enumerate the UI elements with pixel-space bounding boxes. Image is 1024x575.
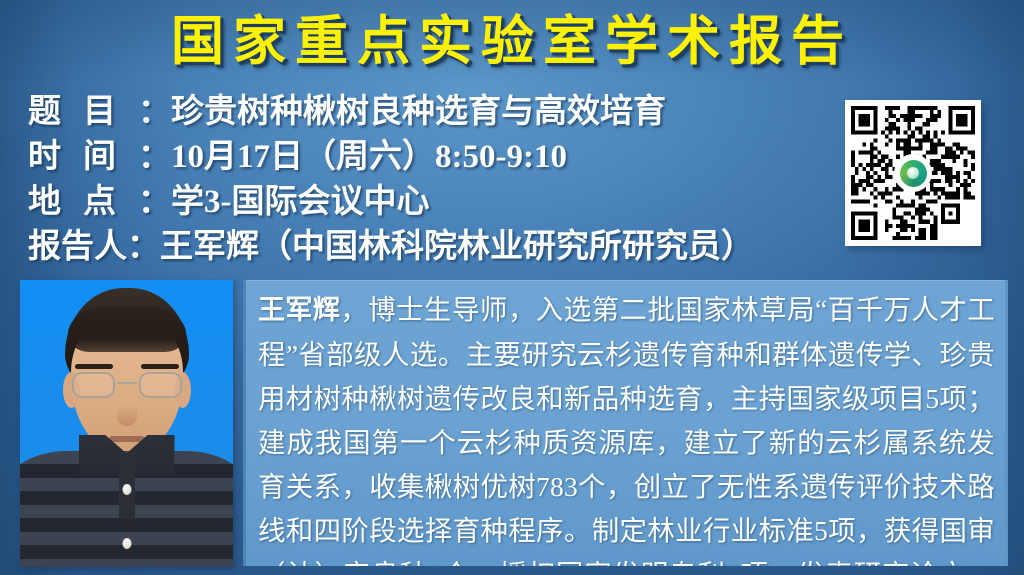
speaker-bio-body: ，博士生导师，入选第二批国家林草局“百千万人才工程”省部级人选。主要研究云杉遗传…: [258, 294, 995, 566]
info-row-time: 时间 ： 10月17日（周六）8:50-9:10: [28, 129, 754, 174]
info-label-speaker: 报告人: [28, 219, 127, 267]
qr-center-logo-icon: [896, 156, 930, 190]
info-value-time: 10月17日（周六）8:50-9:10: [171, 129, 567, 177]
info-label-topic: 题目: [28, 84, 138, 132]
speaker-bio-name: 王军辉: [258, 295, 340, 326]
info-separator-location: ：: [138, 174, 171, 222]
info-row-topic: 题目 ： 珍贵树种楸树良种选育与高效培育: [28, 84, 754, 129]
info-value-location: 学3-国际会议中心: [171, 174, 430, 222]
info-value-topic: 珍贵树种楸树良种选育与高效培育: [171, 84, 666, 132]
info-label-time: 时间: [28, 129, 138, 177]
info-separator-speaker: ：: [127, 219, 160, 267]
seminar-poster: 国家重点实验室学术报告 题目 ： 珍贵树种楸树良种选育与高效培育 时间 ： 10…: [0, 0, 1024, 575]
page-title: 国家重点实验室学术报告: [0, 9, 1024, 75]
info-list: 题目 ： 珍贵树种楸树良种选育与高效培育 时间 ： 10月17日（周六）8:50…: [28, 84, 754, 264]
info-row-location: 地点 ： 学3-国际会议中心: [28, 174, 754, 219]
qr-code-image[interactable]: [851, 106, 975, 240]
speaker-photo: [20, 280, 233, 567]
speaker-bio-text: 王军辉，博士生导师，入选第二批国家林草局“百千万人才工程”省部级人选。主要研究云…: [258, 288, 995, 566]
info-separator-topic: ：: [138, 84, 171, 132]
speaker-bio-panel: 王军辉，博士生导师，入选第二批国家林草局“百千万人才工程”省部级人选。主要研究云…: [243, 280, 1008, 566]
info-value-speaker: 王军辉（中国林科院林业研究所研究员）: [160, 219, 754, 267]
info-label-location: 地点: [28, 174, 138, 222]
qr-code-panel[interactable]: [845, 100, 981, 246]
info-separator-time: ：: [138, 129, 171, 177]
info-row-speaker: 报告人 ： 王军辉（中国林科院林业研究所研究员）: [28, 219, 754, 264]
glasses-icon: [72, 372, 182, 400]
